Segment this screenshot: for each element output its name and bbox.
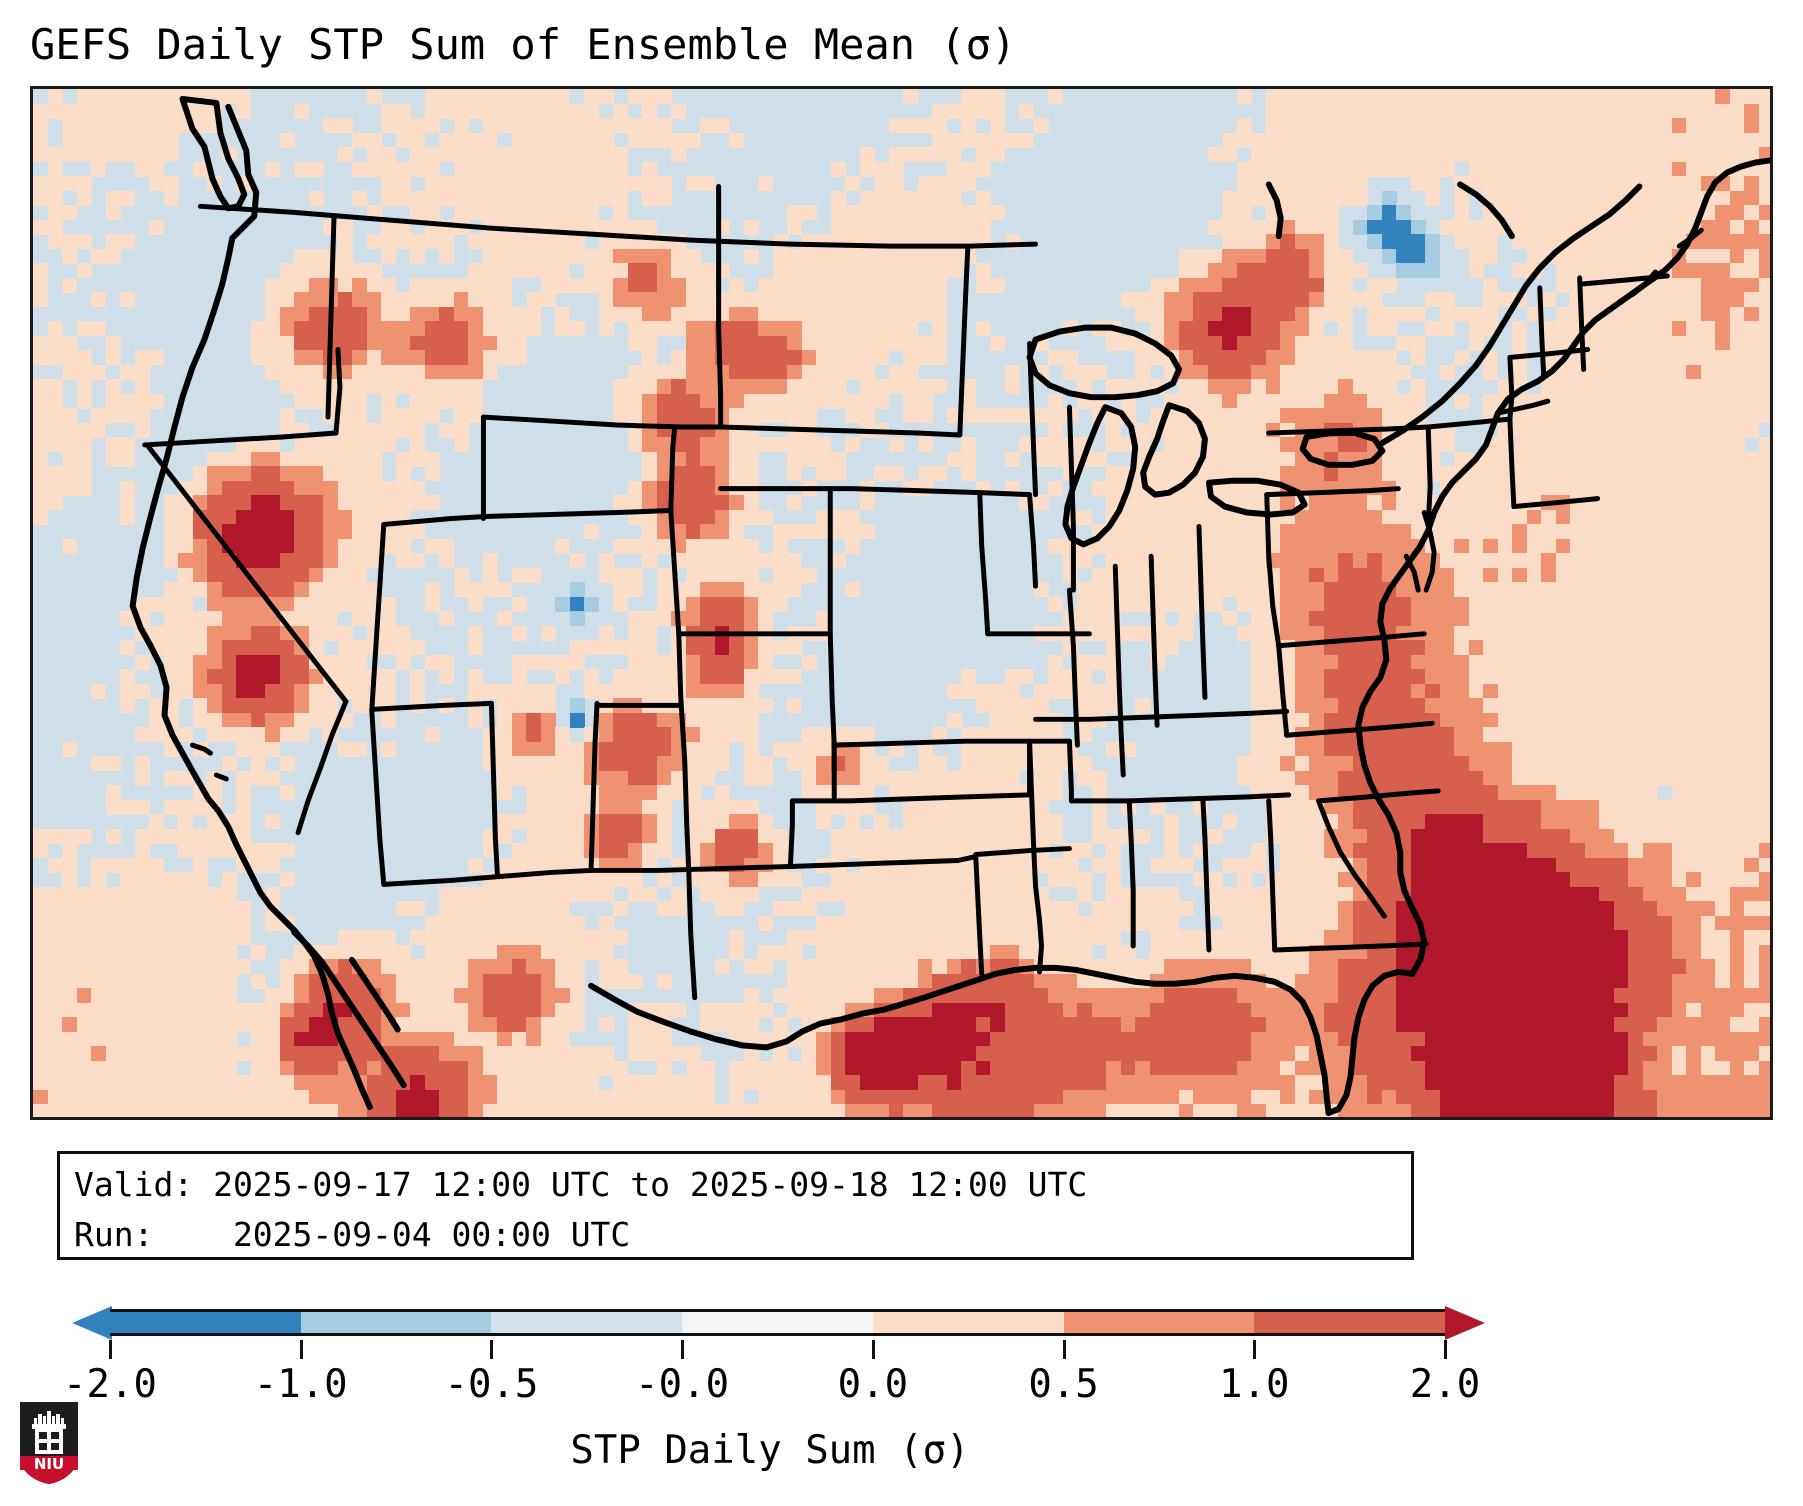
- figure-canvas: GEFS Daily STP Sum of Ensemble Mean (σ): [0, 0, 1803, 1506]
- page-title: GEFS Daily STP Sum of Ensemble Mean (σ): [30, 14, 1770, 76]
- map-plot-area: [33, 89, 1770, 1117]
- map-axes[interactable]: [30, 86, 1773, 1120]
